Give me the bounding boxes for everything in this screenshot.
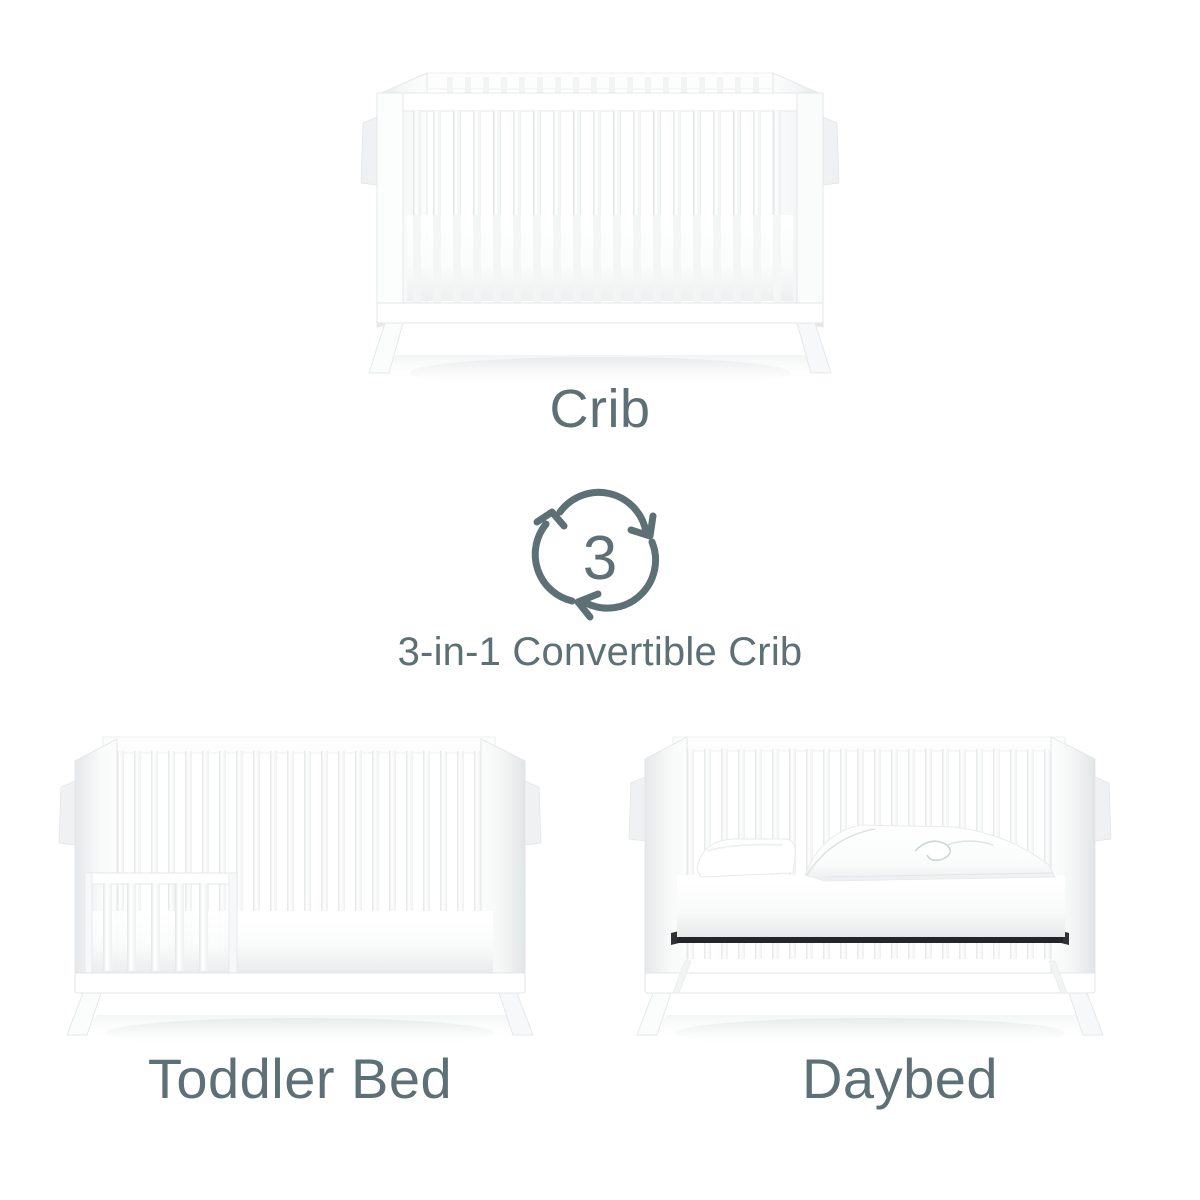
convertible-caption: 3-in-1 Convertible Crib	[0, 630, 1200, 675]
daybed-label: Daybed	[640, 1046, 1160, 1111]
daybed-illustration	[625, 725, 1115, 1045]
infographic-canvas: Crib 3 3-in-1 Convertible Crib	[0, 0, 1200, 1200]
circular-arrows-icon: 3	[520, 486, 680, 631]
toddler-bed-illustration	[55, 725, 545, 1045]
blanket-shape	[805, 825, 1055, 881]
pillow-shape	[697, 839, 795, 877]
crib-label: Crib	[0, 378, 1200, 440]
crib-illustration	[355, 55, 845, 385]
toddler-bed-label: Toddler Bed	[20, 1046, 580, 1111]
